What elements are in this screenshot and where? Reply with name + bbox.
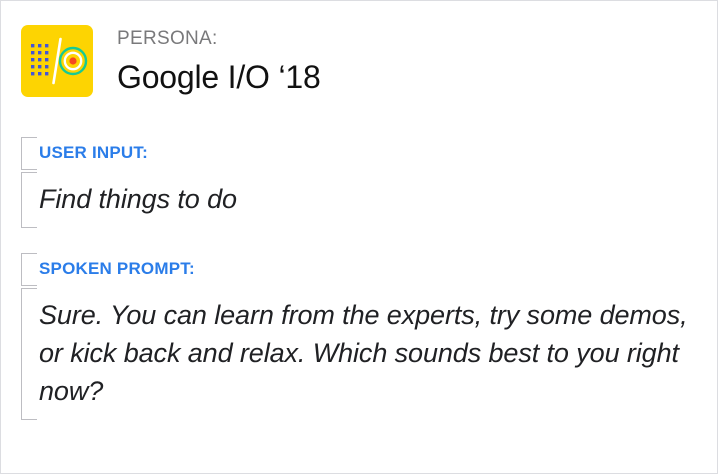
persona-name: Google I/O ‘18 bbox=[117, 57, 321, 97]
spoken-prompt-value: Sure. You can learn from the experts, tr… bbox=[39, 288, 697, 420]
bracket-stem bbox=[21, 137, 22, 170]
spoken-prompt-label-row: SPOKEN PROMPT: bbox=[21, 253, 697, 286]
google-io-logo-icon bbox=[21, 25, 93, 97]
persona-label: PERSONA: bbox=[117, 27, 321, 51]
user-input-label-row: USER INPUT: bbox=[21, 137, 697, 170]
bracket-stem bbox=[21, 288, 22, 420]
bracket-stem bbox=[21, 253, 22, 286]
bracket-user-input-value bbox=[21, 172, 37, 228]
google-io-logo-tile bbox=[21, 25, 93, 97]
persona-header: PERSONA: Google I/O ‘18 bbox=[21, 25, 321, 97]
user-input-value-row: Find things to do bbox=[21, 172, 697, 228]
bracket-spoken-prompt-value bbox=[21, 288, 37, 420]
bracket-user-input-label bbox=[21, 137, 37, 170]
spoken-prompt-label: SPOKEN PROMPT: bbox=[39, 253, 697, 286]
bracket-spoken-prompt-label bbox=[21, 253, 37, 286]
persona-card: PERSONA: Google I/O ‘18 USER INPUT: Find… bbox=[0, 0, 718, 474]
persona-header-text: PERSONA: Google I/O ‘18 bbox=[117, 25, 321, 97]
spoken-prompt-value-row: Sure. You can learn from the experts, tr… bbox=[21, 288, 697, 420]
user-input-value: Find things to do bbox=[39, 172, 697, 228]
bracket-stem bbox=[21, 172, 22, 228]
user-input-label: USER INPUT: bbox=[39, 137, 697, 170]
section-user-input: USER INPUT: Find things to do bbox=[21, 137, 697, 228]
section-spoken-prompt: SPOKEN PROMPT: Sure. You can learn from … bbox=[21, 253, 697, 420]
